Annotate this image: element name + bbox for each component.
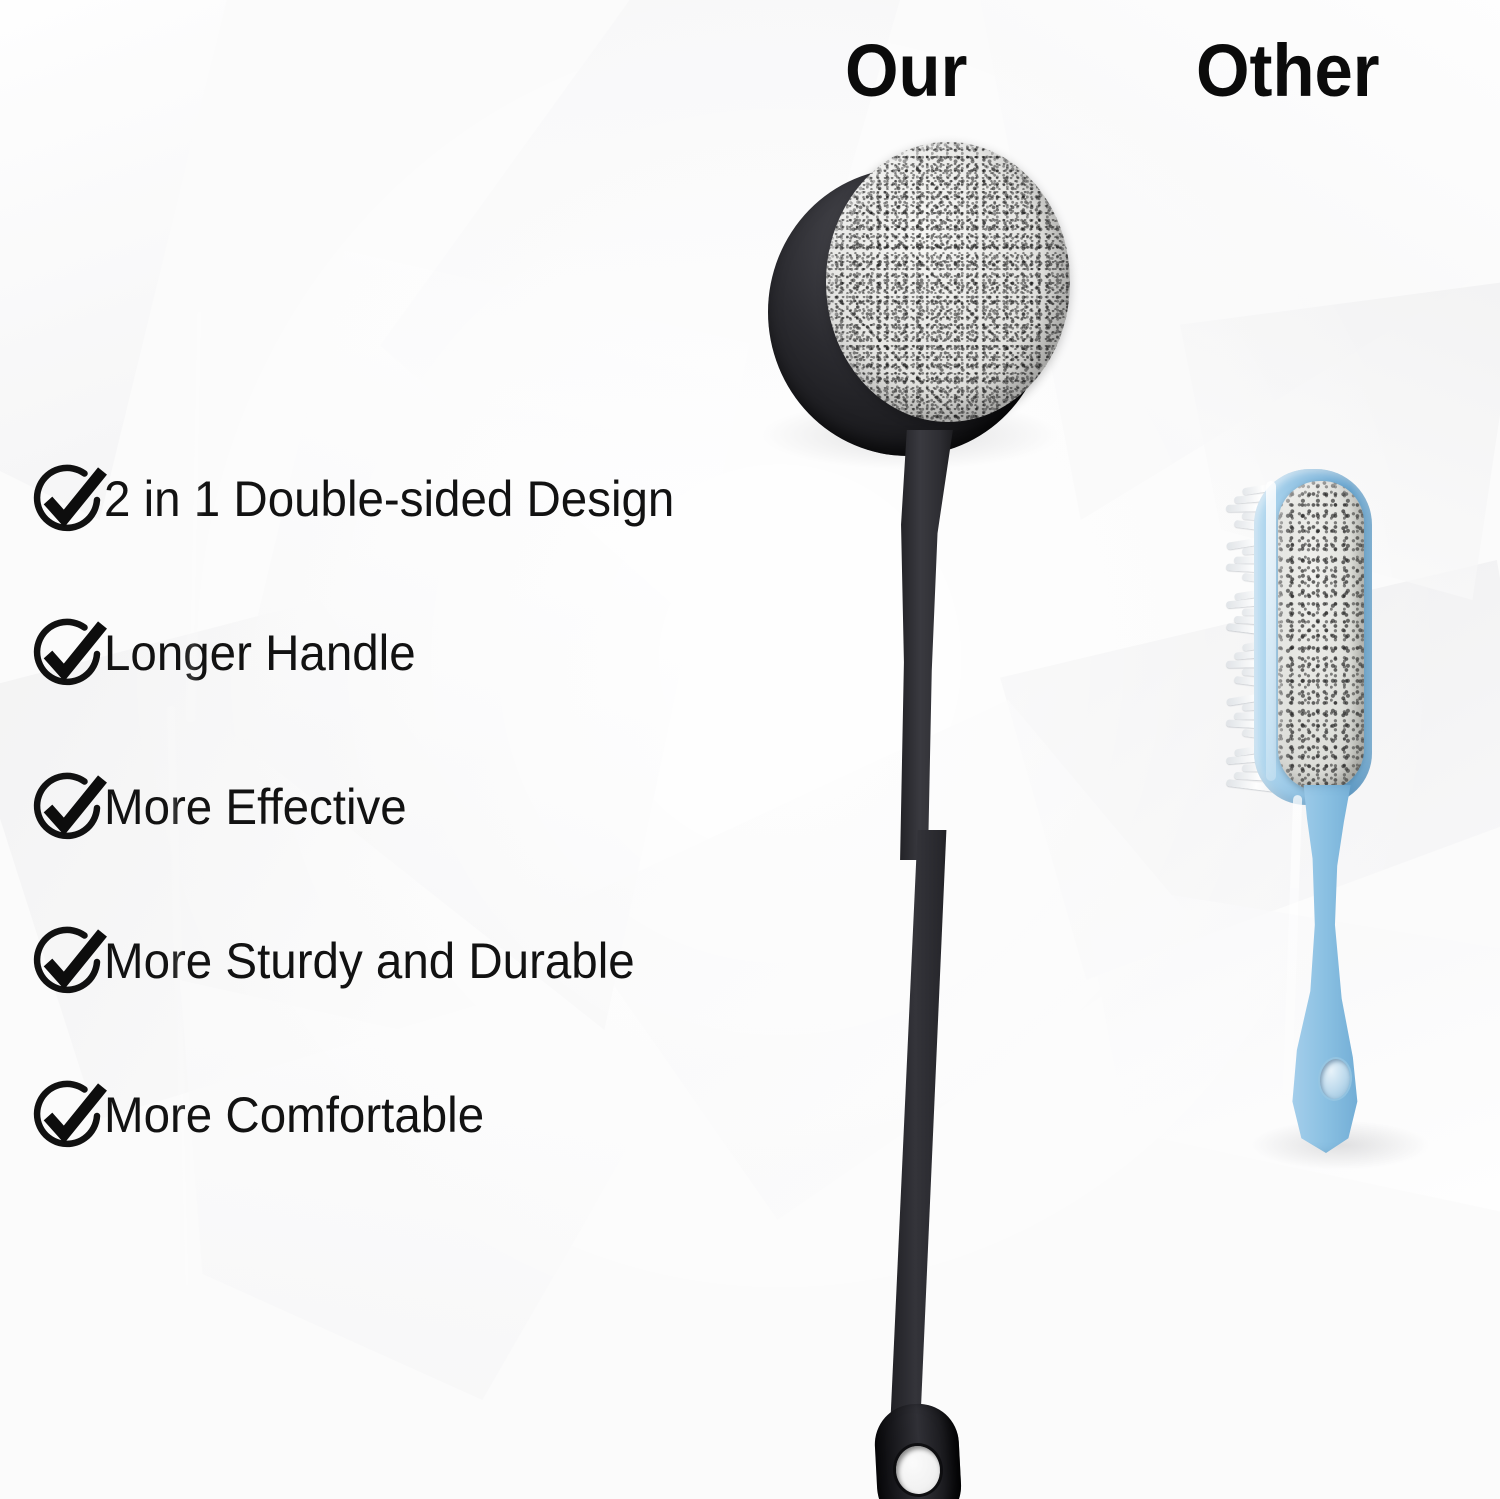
handle-highlight — [1266, 481, 1276, 781]
feature-label: 2 in 1 Double-sided Design — [104, 474, 674, 524]
product-image-ours — [730, 130, 1110, 1490]
feature-label: More Effective — [104, 782, 407, 832]
handle-neck — [878, 430, 974, 860]
feature-label: More Comfortable — [104, 1090, 484, 1140]
handle-shaft — [860, 830, 980, 1430]
feature-item: More Sturdy and Durable — [28, 920, 848, 1074]
feature-item: More Comfortable — [28, 1074, 848, 1228]
pumice-stone-pad — [826, 142, 1070, 422]
check-circle-icon — [28, 768, 108, 848]
column-heading-other: Other — [1196, 34, 1380, 108]
feature-item: More Effective — [28, 766, 848, 920]
check-circle-icon — [28, 1076, 108, 1156]
check-circle-icon — [28, 922, 108, 1002]
check-circle-icon — [28, 460, 108, 540]
pumice-stone-pad — [1278, 481, 1364, 791]
column-heading-ours: Our — [845, 34, 967, 108]
feature-item: Longer Handle — [28, 612, 848, 766]
check-circle-icon — [28, 614, 108, 694]
feature-label: More Sturdy and Durable — [104, 936, 635, 986]
feature-list: 2 in 1 Double-sided Design Longer Handle… — [28, 458, 848, 1228]
feature-label: Longer Handle — [104, 628, 416, 678]
product-image-other — [1222, 455, 1452, 1155]
comparison-graphic: Our Other 2 in 1 Double-sided Design Lon… — [0, 0, 1500, 1499]
feature-item: 2 in 1 Double-sided Design — [28, 458, 848, 612]
handle-end — [856, 1368, 982, 1499]
